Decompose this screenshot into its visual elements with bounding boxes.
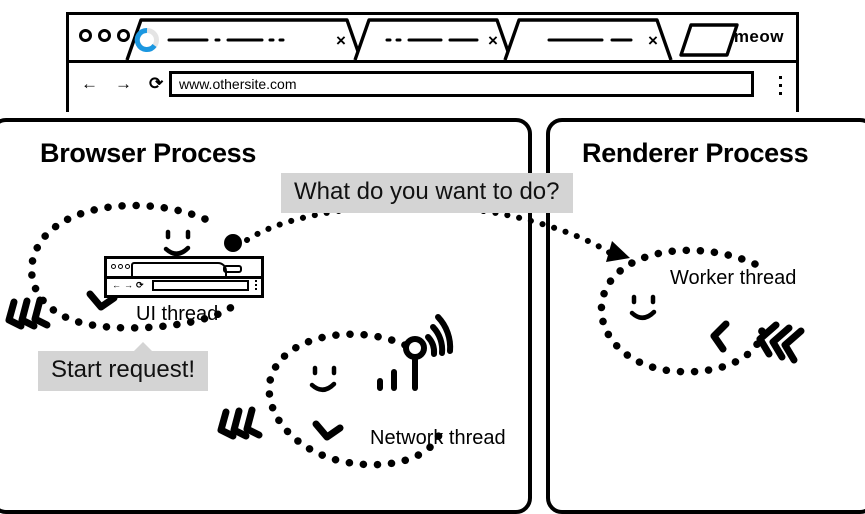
wifi-antenna-icon — [380, 317, 450, 388]
mini-kebab-menu-icon — [255, 280, 257, 292]
label-worker-thread: Worker thread — [670, 267, 796, 290]
network-thread-motion-lines — [221, 410, 259, 436]
mini-tab-strip — [107, 259, 261, 279]
ipc-arrow-path — [247, 206, 610, 253]
worker-thread-motion-lines — [760, 325, 801, 360]
mini-nav-icons: ←→⟳ — [112, 281, 147, 290]
ipc-arrow — [224, 206, 630, 262]
ui-thread-motion-lines — [9, 300, 47, 326]
callout-start-request: Start request! — [38, 351, 208, 391]
mini-tab — [131, 262, 227, 276]
label-network-thread: Network thread — [370, 427, 506, 450]
label-ui-thread: UI thread — [136, 303, 218, 326]
mini-browser-window-icon: ←→⟳ — [104, 256, 264, 298]
network-thread-arrow — [316, 424, 340, 437]
mini-window-controls — [111, 264, 130, 269]
illustration-canvas: meow — [0, 0, 865, 504]
worker-thread-face — [632, 297, 654, 318]
callout-question: What do you want to do? — [281, 173, 573, 213]
ipc-arrow-start-dot — [224, 234, 242, 252]
ui-thread-face — [166, 232, 188, 254]
mini-new-tab — [223, 265, 242, 273]
mini-url-bar — [152, 280, 249, 291]
ipc-arrowhead-icon — [606, 241, 630, 262]
worker-thread-arrow — [714, 324, 726, 349]
network-thread-face — [312, 368, 334, 390]
